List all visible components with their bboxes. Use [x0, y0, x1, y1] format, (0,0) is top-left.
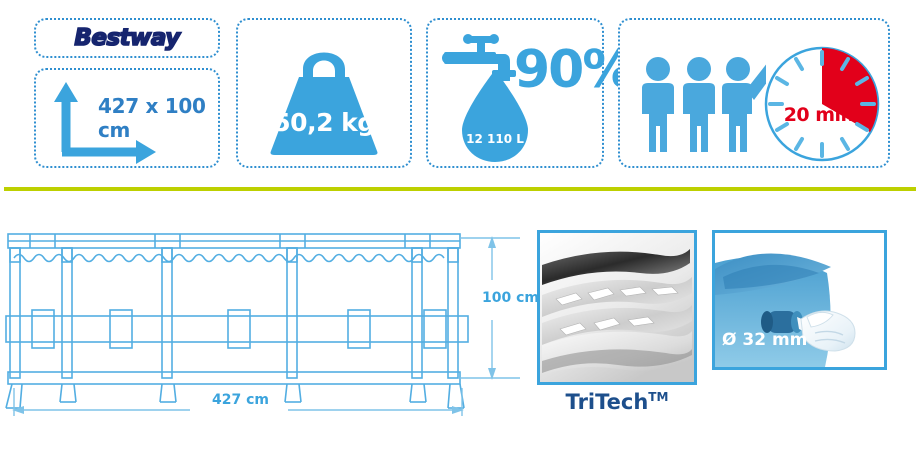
pool-width-label: 427 cm: [212, 392, 269, 408]
people-group-icon: [636, 56, 766, 156]
section-divider: [4, 187, 916, 191]
panel-brand-logo: Bestway: [34, 18, 220, 58]
panel-water-capacity: 12 110 L 90%: [426, 18, 604, 168]
pool-height-label: 100 cm: [482, 290, 539, 306]
tritech-trademark-symbol: TM: [648, 390, 668, 404]
bestway-logo: Bestway: [74, 25, 179, 51]
tritech-caption: TriTechTM: [537, 390, 697, 414]
tritech-card: [537, 230, 697, 385]
panel-weight: 50,2 kg: [236, 18, 412, 168]
panel-dimensions: 427 x 100 cm: [34, 68, 220, 168]
panel-capacity-time: 20 min.: [618, 18, 890, 168]
water-percent-label: 90%: [514, 40, 632, 100]
pool-frame-drawing: [0, 220, 530, 420]
weight-label: 50,2 kg: [238, 108, 410, 137]
tritech-material-layers-image: [540, 233, 694, 382]
pool-frame-svg: [0, 220, 530, 420]
water-capacity-label: 12 110 L: [452, 132, 538, 146]
logo-wrapper: Bestway: [36, 25, 218, 51]
dimensions-label: 427 x 100 cm: [98, 94, 218, 142]
hose-diameter-label: Ø 32 mm: [722, 330, 807, 350]
infographic-sheet: Bestway 427 x 100 cm 50,2 kg: [0, 0, 920, 450]
weight-icon: [255, 29, 393, 157]
tritech-caption-main: TriTech: [566, 390, 649, 414]
setup-time-label: 20 min.: [760, 104, 884, 126]
